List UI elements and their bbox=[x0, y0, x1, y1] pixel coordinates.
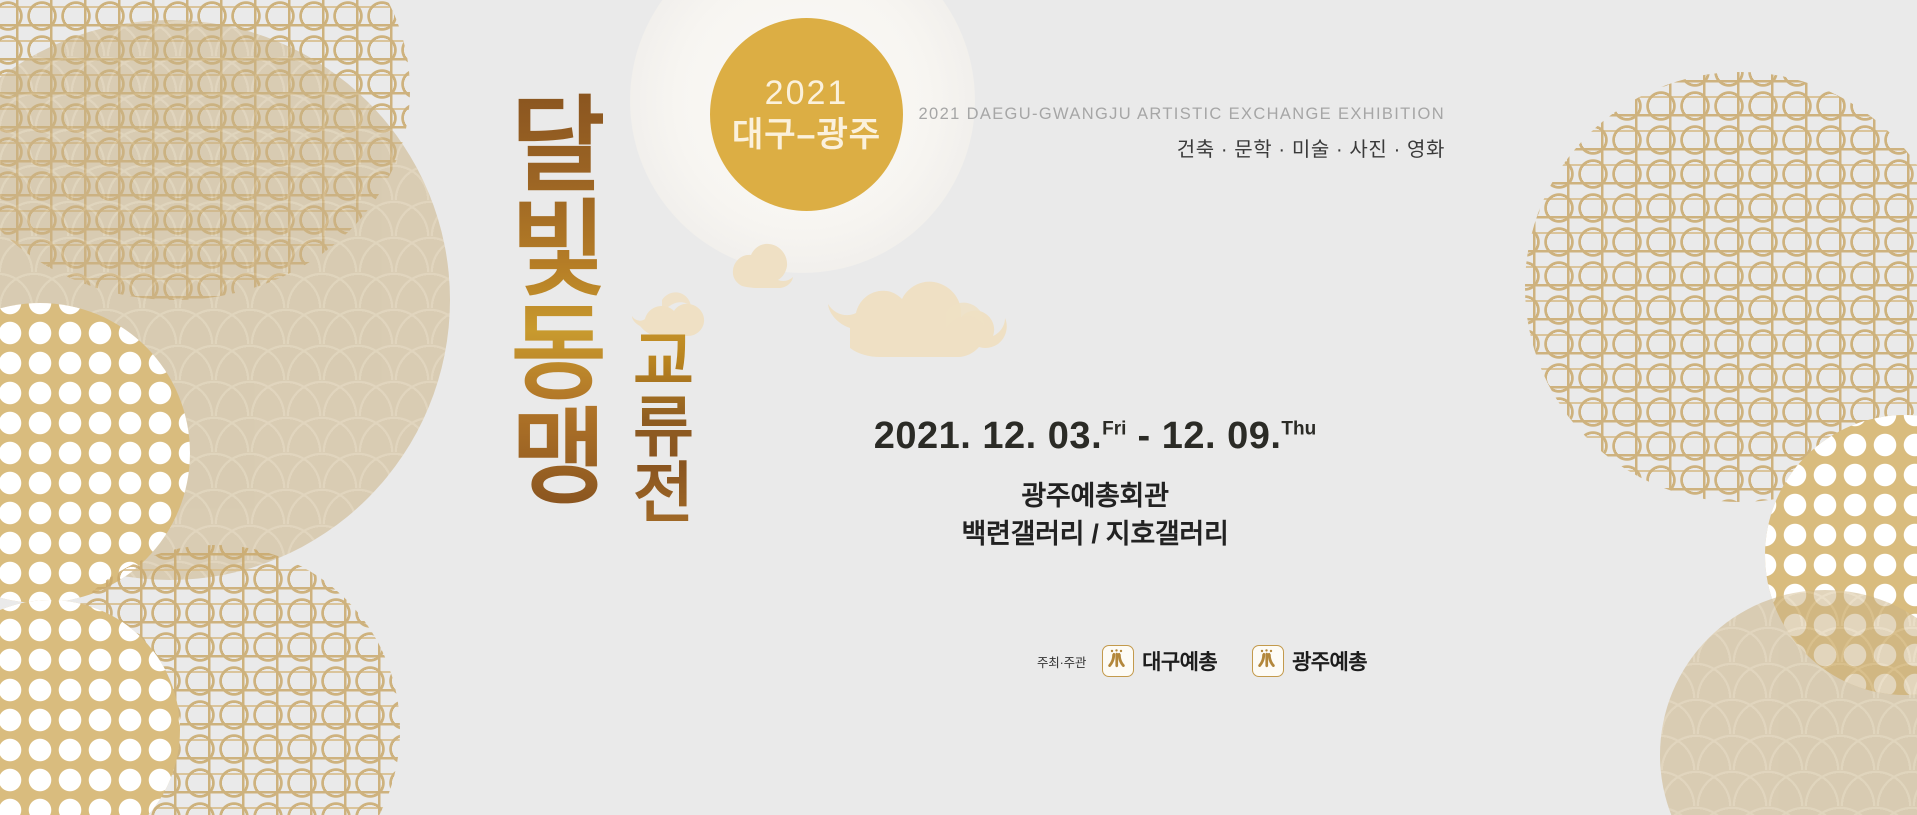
main-title-dalbit-dongmaeng: 달빛동맹 bbox=[492, 90, 603, 506]
sponsor-label: 주최·주관 bbox=[1037, 652, 1086, 671]
exhibition-english-title: 2021 DAEGU-GWANGJU ARTISTIC EXCHANGE EXH… bbox=[700, 105, 1445, 124]
lattice-pattern-circle-right bbox=[1525, 72, 1917, 502]
date-separator: - bbox=[1137, 415, 1150, 457]
exhibition-genres: 건축 · 문학 · 미술 · 사진 · 영화 bbox=[700, 133, 1445, 162]
main-title-gyoryujeon: 교류전 bbox=[617, 326, 696, 524]
yechong-logo-icon bbox=[1102, 645, 1134, 677]
schedule-block: 2021. 12. 03.Fri - 12. 09.Thu 광주예총회관 백련갤… bbox=[745, 415, 1445, 554]
sponsor-name-daegu: 대구예총 bbox=[1142, 646, 1217, 676]
poster-canvas: 2021 대구–광주 달빛동맹 교류전 2021 DAEGU-GWANGJU A… bbox=[0, 0, 1917, 815]
quatrefoil-gold-circle-bottom-left bbox=[0, 600, 180, 815]
main-title-group: 달빛동맹 교류전 bbox=[492, 90, 696, 524]
date-end: 12. 09. bbox=[1162, 415, 1282, 457]
exhibition-dates: 2021. 12. 03.Fri - 12. 09.Thu bbox=[745, 415, 1445, 458]
scale-pattern-circle-bottom-right bbox=[1660, 590, 1917, 815]
lattice-pattern-circle-bottom-left bbox=[30, 545, 400, 815]
lattice-pattern-circle-top-left bbox=[0, 0, 410, 300]
quatrefoil-gold-circle-right bbox=[1765, 415, 1917, 695]
venue-galleries: 백련갤러리 / 지호갤러리 bbox=[745, 515, 1445, 553]
sponsor-bar: 주최·주관 대구예총 bbox=[1037, 645, 1367, 677]
venue-block: 광주예총회관 백련갤러리 / 지호갤러리 bbox=[745, 477, 1445, 554]
venue-building: 광주예총회관 bbox=[745, 477, 1445, 515]
quatrefoil-gold-circle-left bbox=[0, 303, 190, 603]
cloud-large-right bbox=[828, 262, 1063, 363]
exhibition-header: 2021 DAEGU-GWANGJU ARTISTIC EXCHANGE EXH… bbox=[700, 105, 1445, 162]
scale-pattern-circle-left bbox=[0, 20, 450, 580]
sponsor-daegu: 대구예총 bbox=[1102, 645, 1217, 677]
day-start: Fri bbox=[1102, 418, 1126, 439]
day-end: Thu bbox=[1281, 418, 1316, 439]
date-start: 2021. 12. 03. bbox=[874, 415, 1102, 457]
sponsor-gwangju: 광주예총 bbox=[1252, 645, 1367, 677]
yechong-logo-icon bbox=[1252, 645, 1284, 677]
sponsor-name-gwangju: 광주예총 bbox=[1292, 646, 1367, 676]
